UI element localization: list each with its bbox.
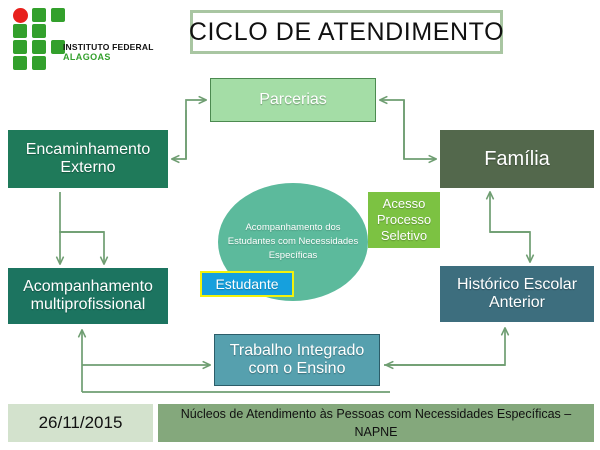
logo-square [32,56,46,70]
chip-acesso-processo-seletivo[interactable]: Acesso Processo Seletivo [368,192,440,248]
node-parcerias-label: Parcerias [259,91,327,109]
footer-caption-text: Núcleos de Atendimento às Pessoas com Ne… [164,405,588,441]
node-historico-escolar-anterior[interactable]: Histórico Escolar Anterior [440,266,594,322]
node-familia-label: Família [484,148,550,171]
ifal-logo: INSTITUTO FEDERAL ALAGOAS [8,6,158,76]
chip-estudante-label: Estudante [215,276,278,292]
node-parcerias[interactable]: Parcerias [210,78,376,122]
node-encaminhamento-externo[interactable]: Encaminhamento Externo [8,130,168,188]
wire-familia-to-historico [490,232,530,262]
center-circle-label: Acompanhamento dos Estudantes com Necess… [227,221,359,262]
logo-square [13,24,27,38]
logo-square [13,40,27,54]
node-encaminhamento-label: Encaminhamento Externo [8,141,168,178]
node-multiprofissional-label: Acompanhamento multiprofissional [8,278,168,315]
wire-encaminhamento-to-multiprofissional [60,192,104,264]
logo-square [32,24,46,38]
node-historico-label: Histórico Escolar Anterior [440,276,594,313]
slide-canvas: INSTITUTO FEDERAL ALAGOAS CICLO DE ATEND… [0,0,600,450]
footer-caption: Núcleos de Atendimento às Pessoas com Ne… [158,404,594,442]
page-title: CICLO DE ATENDIMENTO [190,10,503,54]
node-trabalho-integrado[interactable]: Trabalho Integrado com o Ensino [214,334,380,386]
wire-to-multiprofissional-branch [60,232,104,264]
chip-estudante[interactable]: Estudante [200,271,294,297]
footer-date-text: 26/11/2015 [39,413,123,433]
logo-square [32,40,46,54]
chip-acesso-label: Acesso Processo Seletivo [368,196,440,245]
wire-parcerias-to-encaminhamento [172,110,186,159]
node-trabalho-label: Trabalho Integrado com o Ensino [215,342,379,379]
logo-red-dot [13,8,28,23]
logo-text-secondary: ALAGOAS [63,52,111,62]
wire-encaminhamento-to-parcerias [186,100,206,159]
page-title-text: CICLO DE ATENDIMENTO [189,18,504,47]
logo-square [13,56,27,70]
wire-familia-to-parcerias [380,100,404,159]
node-acompanhamento-multiprofissional[interactable]: Acompanhamento multiprofissional [8,268,168,324]
footer-date: 26/11/2015 [8,404,153,442]
wire-historico-to-familia [490,192,530,232]
logo-text-primary: INSTITUTO FEDERAL [63,42,154,52]
logo-square [51,8,65,22]
node-familia[interactable]: Família [440,130,594,188]
wire-parcerias-to-familia [404,100,436,159]
logo-square [32,8,46,22]
wire-trabalho-to-historico [384,328,505,365]
